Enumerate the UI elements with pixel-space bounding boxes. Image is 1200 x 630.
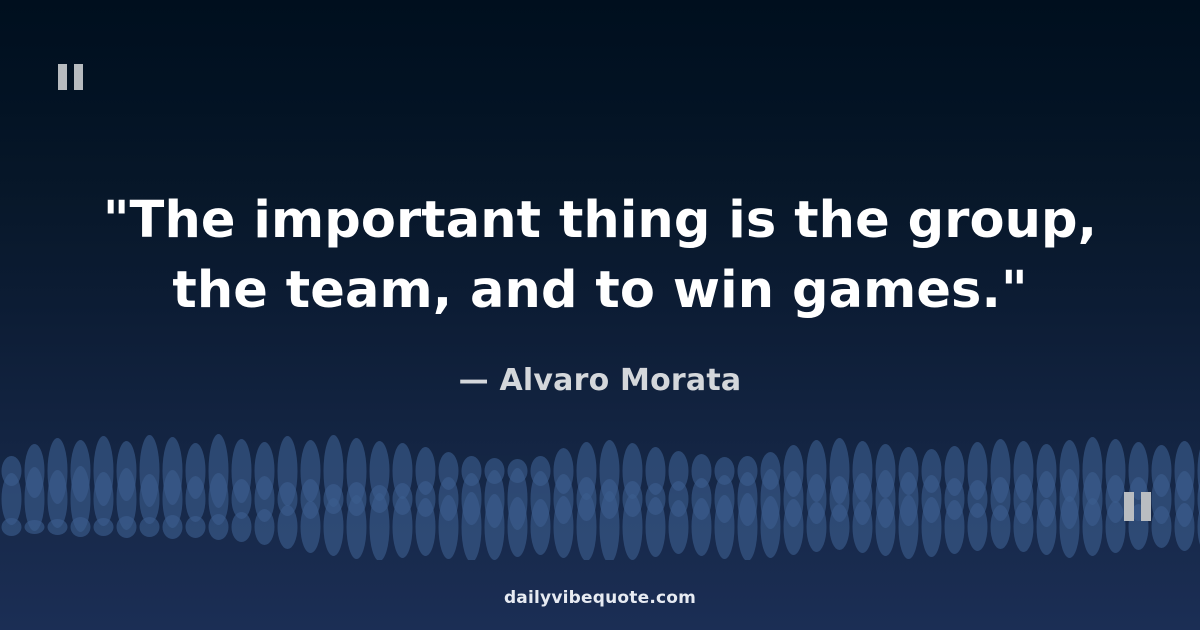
quote-mark-icon bbox=[58, 64, 83, 90]
site-watermark: dailyvibequote.com bbox=[0, 588, 1200, 608]
quote-mark-icon bbox=[1124, 492, 1151, 521]
quote-mark-bar bbox=[58, 64, 67, 90]
audio-waveform-graphic bbox=[0, 395, 1200, 560]
quote-card: "The important thing is the group, the t… bbox=[0, 0, 1200, 630]
quote-author: — Alvaro Morata bbox=[60, 363, 1140, 398]
quote-mark-bar bbox=[1141, 492, 1151, 521]
quote-mark-bar bbox=[74, 64, 83, 90]
quote-text: "The important thing is the group, the t… bbox=[60, 186, 1140, 326]
quote-mark-bar bbox=[1124, 492, 1134, 521]
